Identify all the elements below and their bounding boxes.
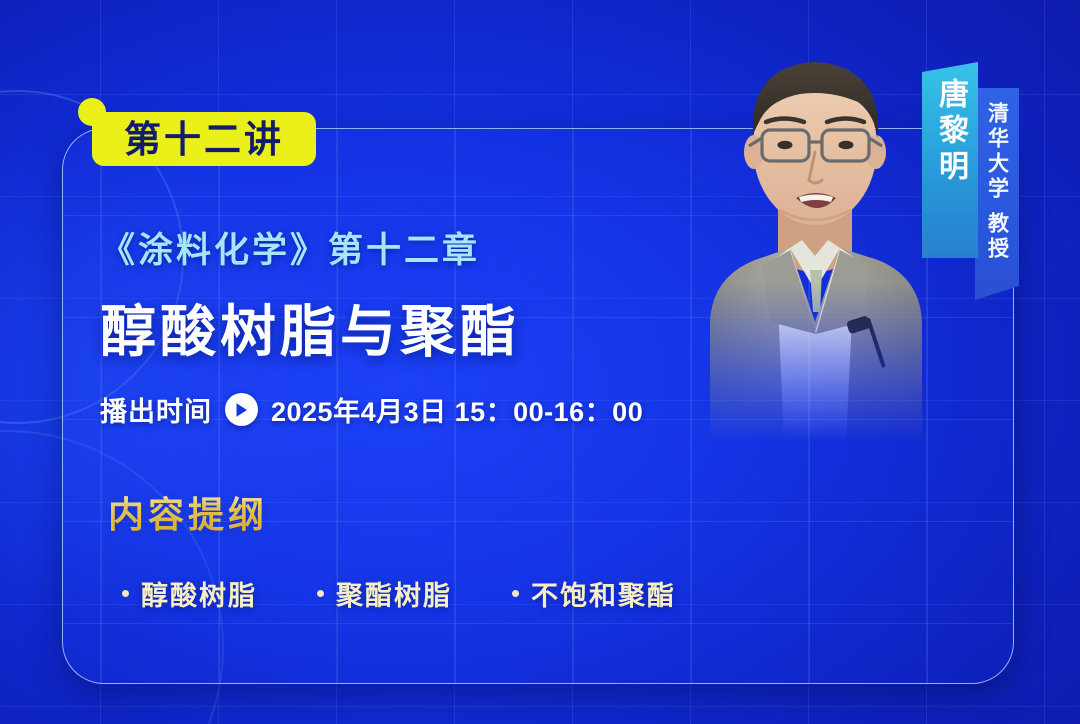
lecture-title: 醇酸树脂与聚酯 [100, 287, 740, 368]
title-block: 《涂料化学》第十二章 醇酸树脂与聚酯 播出时间 2025年4月3日 15：00-… [100, 222, 740, 429]
episode-badge: 第十二讲 [92, 112, 316, 166]
episode-badge-label: 第十二讲 [124, 121, 284, 158]
airtime-label: 播出时间 [100, 390, 212, 429]
outline-items: 醇酸树脂 聚酯树脂 不饱和聚酯 [108, 574, 676, 613]
outline-heading: 内容提纲 [108, 486, 676, 538]
speaker-name: 唐黎明 [935, 78, 965, 186]
bullet-icon [122, 590, 129, 597]
bullet-icon [317, 590, 324, 597]
speaker-name-ribbon: 唐黎明 [922, 62, 978, 258]
outline-item-label: 聚酯树脂 [336, 574, 452, 613]
outline-item-label: 不饱和聚酯 [531, 574, 676, 613]
play-icon[interactable] [225, 393, 258, 426]
outline-block: 内容提纲 醇酸树脂 聚酯树脂 不饱和聚酯 [108, 486, 676, 613]
speaker-affiliation: 清华大学 教授 [987, 102, 1008, 262]
speaker-affiliation-ribbon: 清华大学 教授 [975, 88, 1019, 300]
list-item: 醇酸树脂 [122, 574, 257, 613]
list-item: 聚酯树脂 [317, 574, 452, 613]
lecture-poster: 唐黎明 清华大学 教授 第十二讲 《涂料化学》第十二章 醇酸树脂与聚酯 播出时间… [0, 0, 1080, 724]
yellow-dot-icon [78, 98, 106, 126]
airtime-value: 2025年4月3日 15：00-16：00 [271, 390, 643, 429]
list-item: 不饱和聚酯 [512, 574, 676, 613]
course-subtitle: 《涂料化学》第十二章 [100, 222, 740, 273]
airtime-row: 播出时间 2025年4月3日 15：00-16：00 [100, 390, 740, 429]
outline-item-label: 醇酸树脂 [141, 574, 257, 613]
bullet-icon [512, 590, 519, 597]
